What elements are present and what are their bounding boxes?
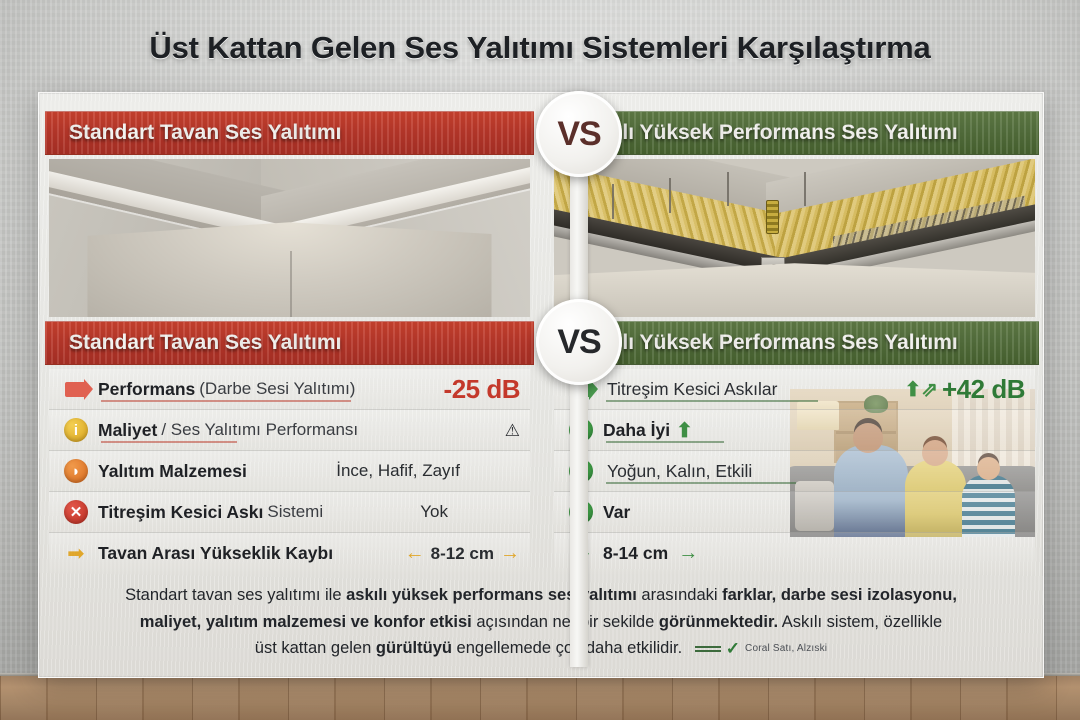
row-sublabel: / Ses Yalıtımı Performansı [161, 420, 358, 440]
row-label: Tavan Arası Yükseklik Kaybı [98, 543, 333, 564]
footer-l1-d: farklar, darbe sesi izolasyonu, [722, 586, 957, 604]
row-value: -25 dB [444, 374, 520, 405]
arrow-amber-icon: ➟ [61, 541, 91, 567]
row-value: +42 dB [942, 374, 1025, 405]
row-height-loss-standard: ➟ Tavan Arası Yükseklik Kaybı ← 8-12 cm … [49, 533, 530, 574]
photo-suspended-ceiling [554, 159, 1035, 317]
arrow-up-icon: ⬆ [676, 418, 693, 443]
row-label: Titreşim Kesici Askılar [607, 379, 778, 400]
info-circle-amber-icon: i [61, 417, 91, 443]
footer-l2-d: Askılı sistem, özellikle [778, 613, 942, 631]
banner-suspended-mid: Askılı Yüksek Performans Ses Yalıtımı [550, 321, 1039, 365]
footer-line-2: maliyet, yalıtım malzemesi ve konfor etk… [63, 609, 1019, 636]
row-performance-standard: Performans (Darbe Sesi Yalıtımı) -25 dB [49, 369, 530, 410]
row-better-suspended: ✓ Daha İyi ⬆ [554, 410, 1035, 451]
banner-standard-mid-label: Standart Tavan Ses Yalıtımı [69, 331, 341, 355]
photo-standard-ceiling [49, 159, 530, 317]
signature-check-icon: ✓ [726, 635, 740, 663]
infographic-page: Üst Kattan Gelen Ses Yalıtımı Sistemleri… [0, 0, 1080, 720]
wood-floor [0, 676, 1080, 720]
banner-standard-top-label: Standart Tavan Ses Yalıtımı [69, 121, 341, 145]
vs-badge-middle: VS [536, 299, 622, 385]
comparison-card: Standart Tavan Ses Yalıtımı Standart Tav… [38, 92, 1044, 678]
banner-standard-mid: Standart Tavan Ses Yalıtımı [45, 321, 534, 365]
row-label: Yalıtım Malzemesi [98, 461, 247, 482]
row-value: 8-12 cm [431, 544, 494, 564]
row-label: Titreşim Kesici Askı [98, 502, 263, 523]
row-sublabel: Sistemi [267, 502, 323, 522]
page-title: Üst Kattan Gelen Ses Yalıtımı Sistemleri… [0, 30, 1080, 66]
footer-l3-b: gürültüyü [376, 640, 452, 658]
footer-l2-c: görünmektedir. [659, 613, 778, 631]
row-height-loss-suspended: ➟ 8-14 cm → [554, 533, 1035, 574]
footer-l2-a: maliyet, yalıtım malzemesi ve konfor etk… [140, 613, 472, 631]
row-label: Performans [98, 379, 195, 400]
row-label: Yoğun, Kalın, Etkili [607, 461, 752, 482]
footer-l2-b: açısından net bir sekilde [472, 613, 659, 631]
arrow-left-icon: ← [405, 542, 425, 565]
footer-l1-b: askılı yüksek performans ses yalıtımı [346, 586, 637, 604]
vs-divider-bottom [570, 371, 588, 667]
footer-l1-a: Standart tavan ses yalıtımı ile [125, 586, 346, 604]
warning-triangle-icon: ⚠ [505, 422, 520, 439]
row-value: İnce, Hafif, Zayıf [336, 461, 460, 481]
row-cost-standard: i Maliyet / Ses Yalıtımı Performansı ⚠ [49, 410, 530, 451]
footer-line-1: Standart tavan ses yalıtımı ile askılı y… [63, 582, 1019, 609]
row-performance-suspended: Titreşim Kesici Askılar ⬆⇗ +42 dB [554, 369, 1035, 410]
footer-line-3: üst kattan gelen gürültüyü engellemede ç… [63, 635, 1019, 663]
signature-text: Coral Satı, Alzıski [745, 641, 827, 657]
row-label: Var [603, 502, 630, 523]
arrow-right-icon: → [678, 542, 698, 565]
rows-suspended: Titreşim Kesici Askılar ⬆⇗ +42 dB ✓ Daha… [554, 369, 1035, 574]
footer-paragraph: Standart tavan ses yalıtımı ile askılı y… [63, 582, 1019, 663]
footer-l3-a: üst kattan gelen [255, 640, 376, 658]
arrow-right-icon: → [500, 542, 520, 565]
speaker-red-icon [61, 376, 91, 402]
banner-suspended-top-label: Askılı Yüksek Performans Ses Yalıtımı [578, 121, 958, 145]
row-hanger-standard: ✕ Titreşim Kesici Askı Sistemi Yok [49, 492, 530, 533]
footer-l3-c: engellemede çok daha etkilidir. [452, 640, 682, 658]
row-material-suspended: ✓ Yoğun, Kalın, Etkili [554, 451, 1035, 492]
row-hanger-suspended: ✓ Var [554, 492, 1035, 533]
banner-suspended-mid-label: Askılı Yüksek Performans Ses Yalıtımı [578, 331, 958, 355]
row-sublabel: (Darbe Sesi Yalıtımı) [199, 379, 355, 399]
row-label: 8-14 cm [603, 543, 668, 564]
rows-standard: Performans (Darbe Sesi Yalıtımı) -25 dB … [49, 369, 530, 574]
banner-suspended-top: Askılı Yüksek Performans Ses Yalıtımı [550, 111, 1039, 155]
footer-l1-c: arasındaki [637, 586, 722, 604]
row-label: Daha İyi [603, 420, 670, 441]
row-label: Maliyet [98, 420, 157, 441]
x-circle-red-icon: ✕ [61, 499, 91, 525]
signature-watermark: ✓ Coral Satı, Alzıski [695, 635, 827, 663]
vs-badge-top: VS [536, 91, 622, 177]
row-value: Yok [420, 502, 448, 522]
banner-standard-top: Standart Tavan Ses Yalıtımı [45, 111, 534, 155]
signature-bars-icon [695, 643, 721, 655]
row-material-standard: ◗ Yalıtım Malzemesi İnce, Hafif, Zayıf [49, 451, 530, 492]
double-arrow-up-icon: ⬆⇗ [904, 377, 938, 402]
swirl-orange-icon: ◗ [61, 458, 91, 484]
